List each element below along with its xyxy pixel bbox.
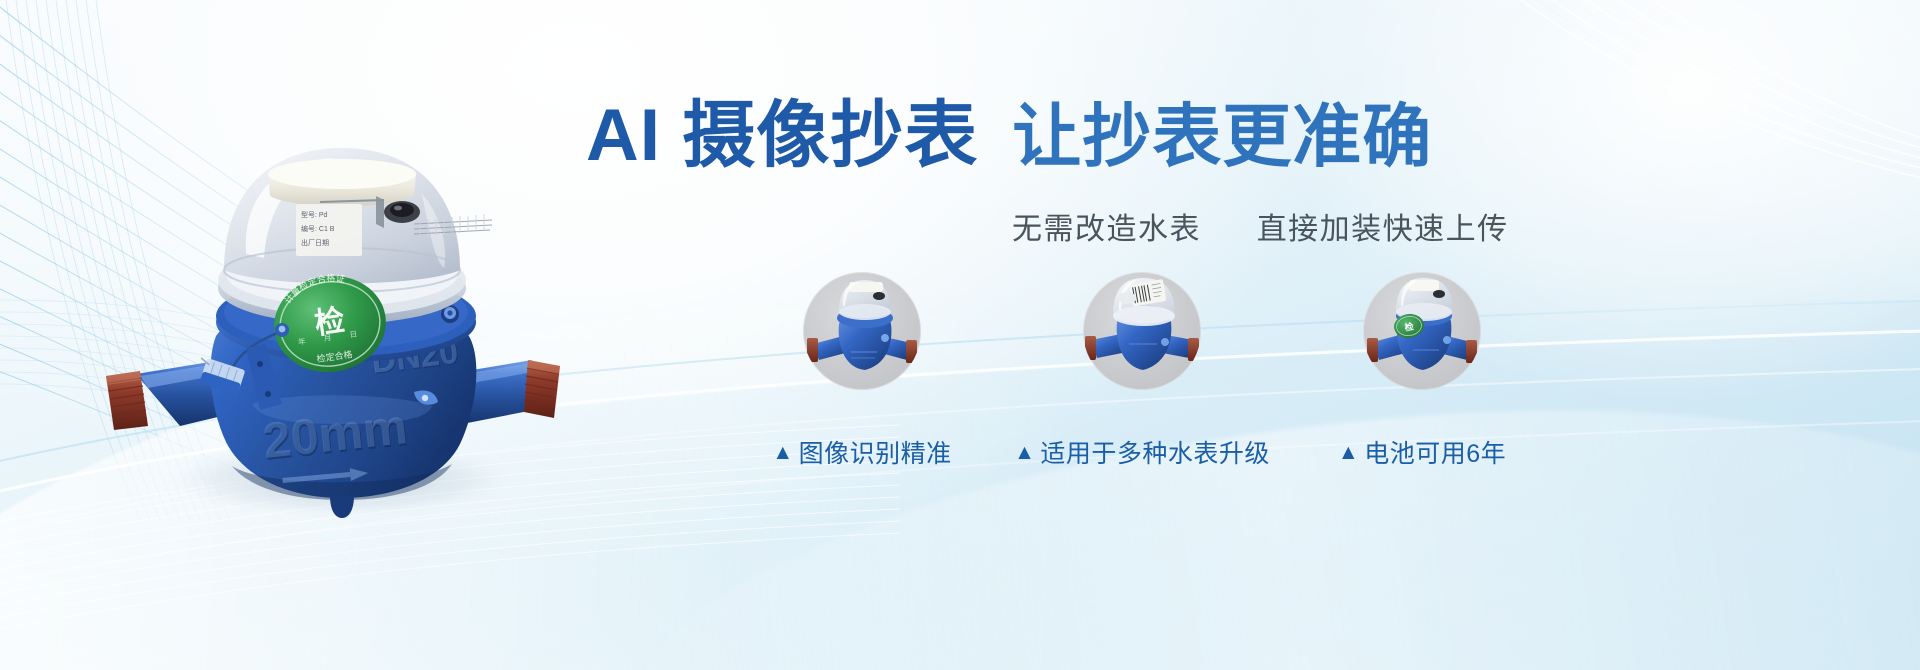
headline-primary: AI 摄像抄表: [586, 99, 978, 172]
thumb-meter-1: [803, 272, 921, 390]
water-meter-thumb-camera-module: [803, 272, 921, 390]
feature-caption-text-2: 适用于多种水表升级: [1040, 434, 1270, 470]
water-meter-thumb-green-seal: 检: [1363, 272, 1481, 390]
feature-thumbnail-row: ▲ 图像识别精准: [742, 272, 1542, 470]
subtitle-part-2: 直接加装快速上传: [1257, 213, 1509, 246]
water-meter-illustration: DN20 DN20 20mm 20mm: [84, 74, 584, 524]
spec-label: 型号: Pd 编号: C1 B 出厂日期: [296, 204, 362, 256]
camera-lens: [384, 201, 420, 223]
product-hero-image: DN20 DN20 20mm 20mm: [84, 74, 584, 524]
svg-text:日: 日: [349, 329, 358, 339]
svg-text:月: 月: [323, 333, 332, 343]
right-threaded-port: [524, 360, 560, 418]
svg-text:型号: Pd: 型号: Pd: [301, 210, 328, 219]
feature-caption-1: ▲ 图像识别精准: [772, 434, 951, 470]
headline-secondary: 让抄表更准确: [1012, 102, 1432, 171]
thumb-meter-2: [1083, 272, 1201, 390]
feature-item-battery-life[interactable]: 检 ▲ 电池可用6年: [1302, 272, 1542, 470]
feature-caption-3: ▲ 电池可用6年: [1338, 434, 1506, 470]
subtitle-part-1: 无需改造水表: [1012, 213, 1201, 246]
triangle-marker-icon: ▲: [1338, 442, 1359, 463]
promo-banner: DN20 DN20 20mm 20mm: [0, 0, 1920, 670]
feature-caption-text-3: 电池可用6年: [1364, 434, 1506, 470]
svg-text:出厂日期: 出厂日期: [301, 238, 329, 247]
thumb-meter-3: 检: [1363, 272, 1481, 390]
water-meter-thumb-barcode-label: [1083, 272, 1201, 390]
triangle-marker-icon: ▲: [1014, 442, 1035, 463]
headline: AI 摄像抄表 让抄表更准确: [586, 99, 1432, 172]
feature-item-multi-meter-upgrade[interactable]: ▲ 适用于多种水表升级: [1022, 272, 1262, 470]
subtitle: 无需改造水表 直接加装快速上传: [1012, 204, 1509, 248]
feature-caption-2: ▲ 适用于多种水表升级: [1014, 434, 1270, 470]
svg-text:编号: C1 B: 编号: C1 B: [301, 224, 335, 233]
feature-item-image-recognition[interactable]: ▲ 图像识别精准: [742, 272, 982, 470]
svg-text:检: 检: [1404, 320, 1414, 332]
feature-caption-text-1: 图像识别精准: [799, 434, 952, 470]
triangle-marker-icon: ▲: [772, 442, 793, 463]
